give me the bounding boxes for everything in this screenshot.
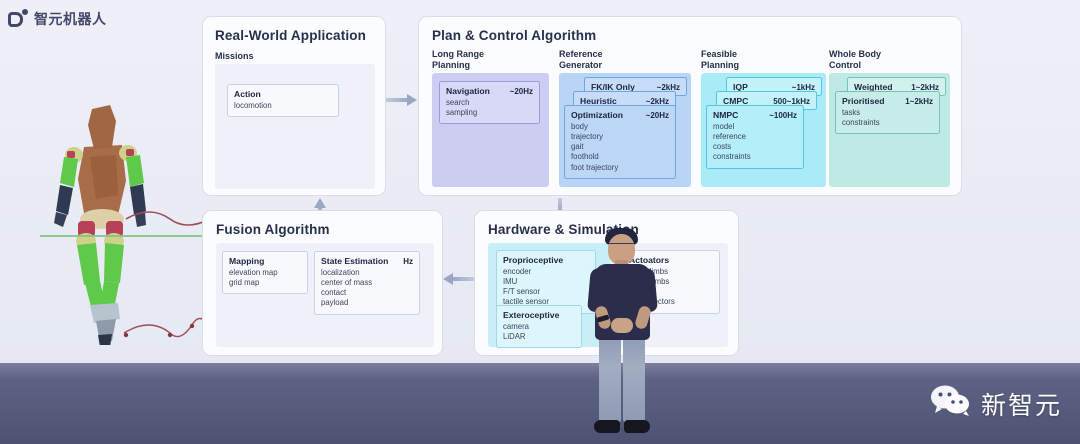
card-proprioceptive[interactable]: Proprioceptive encoder IMU F/T sensor ta… — [496, 250, 596, 314]
panel-title-plan-control: Plan & Control Algorithm — [432, 28, 596, 43]
floor-reflection — [0, 363, 1080, 379]
list-item: payload — [321, 298, 413, 308]
list-item: contact — [321, 288, 413, 298]
list-item: camera — [503, 322, 575, 332]
group-title-reference-generator: Reference Generator — [559, 49, 603, 71]
card-title-navigation: Navigation — [446, 86, 490, 96]
list-item: trajectory — [571, 132, 669, 142]
list-item: model — [713, 122, 797, 132]
card-items-navigation: search sampling — [446, 98, 533, 118]
card-title-optimization: Optimization — [571, 110, 623, 120]
group-title-long-range-planning: Long Range Planning — [432, 49, 484, 71]
card-exteroceptive[interactable]: Exteroceptive camera LiDAR — [496, 305, 582, 348]
presenter-leg-right — [623, 336, 645, 424]
robot-svg — [40, 95, 215, 345]
card-mapping[interactable]: Mapping elevation map grid map — [222, 251, 308, 294]
brand-name: 智元机器人 — [34, 9, 107, 29]
list-item: body — [571, 122, 669, 132]
list-item: grid map — [229, 278, 301, 288]
list-item: sampling — [446, 108, 533, 118]
card-hz-prioritised: 1~2kHz — [905, 97, 933, 106]
group-body-long-range-planning: Navigation ~20Hz search sampling — [432, 73, 549, 187]
card-navigation[interactable]: Navigation ~20Hz search sampling — [439, 81, 540, 124]
card-hz-optimization: ~20Hz — [646, 111, 669, 120]
list-item: gait — [571, 142, 669, 152]
card-items-mapping: elevation map grid map — [229, 268, 301, 288]
card-state-estimation[interactable]: State Estimation Hz localization center … — [314, 251, 420, 315]
brand-logo: 智元机器人 — [8, 9, 107, 29]
glasses-icon — [609, 243, 634, 248]
card-title-action: Action — [234, 89, 261, 99]
card-items-nmpc: model reference costs constraints — [713, 122, 797, 163]
group-body-fusion: Mapping elevation map grid map State Est… — [216, 243, 434, 347]
card-hz-state-estimation: Hz — [403, 257, 413, 266]
card-title-prioritised: Prioritised — [842, 96, 885, 106]
group-title-missions: Missions — [215, 51, 254, 62]
list-item: locomotion — [234, 101, 332, 111]
panel-real-world-application: Real-World Application Missions Action l… — [202, 16, 386, 196]
list-item: constraints — [713, 152, 797, 162]
list-item: LiDAR — [503, 332, 575, 342]
card-hz-nmpc: ~100Hz — [769, 111, 797, 120]
list-item: reference — [713, 132, 797, 142]
list-item: IMU — [503, 277, 589, 287]
group-body-reference-generator: FK/IK Only ~2kHz Heuristic ~2kHz Optimiz… — [559, 73, 691, 187]
panel-title-fusion: Fusion Algorithm — [216, 222, 330, 237]
list-item: localization — [321, 268, 413, 278]
list-item: foothold — [571, 152, 669, 162]
list-item: foot trajectory — [571, 163, 669, 173]
card-hz-navigation: ~20Hz — [510, 87, 533, 96]
list-item: search — [446, 98, 533, 108]
list-item: tasks — [842, 108, 933, 118]
presenter-person — [582, 226, 664, 444]
watermark: 新智元 — [930, 385, 1062, 422]
card-title-nmpc: NMPC — [713, 110, 738, 120]
card-items-action: locomotion — [234, 101, 332, 111]
arrow-hardware-to-fusion — [442, 273, 474, 285]
list-item: encoder — [503, 267, 589, 277]
panel-plan-control-algorithm: Plan & Control Algorithm Long Range Plan… — [418, 16, 962, 196]
panel-fusion-algorithm: Fusion Algorithm Mapping elevation map g… — [202, 210, 443, 356]
card-items-state-estimation: localization center of mass contact payl… — [321, 268, 413, 309]
list-item: elevation map — [229, 268, 301, 278]
card-prioritised[interactable]: Prioritised 1~2kHz tasks constraints — [835, 91, 940, 134]
card-nmpc[interactable]: NMPC ~100Hz model reference costs constr… — [706, 105, 804, 169]
card-optimization[interactable]: Optimization ~20Hz body trajectory gait … — [564, 105, 676, 179]
presenter-leg-left — [599, 336, 621, 424]
group-body-whole-body-control: Weighted 1~2kHz Prioritised 1~2kHz tasks… — [829, 73, 950, 187]
group-title-whole-body-control: Whole Body Control — [829, 49, 881, 71]
list-item: center of mass — [321, 278, 413, 288]
ground-plane-line — [40, 235, 215, 237]
card-items-optimization: body trajectory gait foothold foot traje… — [571, 122, 669, 173]
card-title-exteroceptive: Exteroceptive — [503, 310, 559, 320]
panel-title-real-world: Real-World Application — [215, 28, 366, 43]
card-title-proprioceptive: Proprioceptive — [503, 255, 563, 265]
card-items-exteroceptive: camera LiDAR — [503, 322, 575, 342]
list-item: costs — [713, 142, 797, 152]
card-items-proprioceptive: encoder IMU F/T sensor tactile sensor — [503, 267, 589, 308]
group-body-feasible-planning: IQP ~1kHz CMPC 500~1kHz NMPC ~100Hz mode… — [701, 73, 826, 187]
agibot-logo-icon — [8, 9, 28, 29]
humanoid-robot-simulation-figure — [40, 95, 215, 345]
card-title-state-estimation: State Estimation — [321, 256, 388, 266]
watermark-text: 新智元 — [981, 386, 1062, 422]
arrow-realworld-to-plan — [386, 94, 418, 106]
group-title-feasible-planning: Feasible Planning — [701, 49, 739, 71]
card-title-mapping: Mapping — [229, 256, 264, 266]
list-item: constraints — [842, 118, 933, 128]
presenter-shoe-right — [624, 420, 650, 433]
presenter-shoe-left — [594, 420, 620, 433]
group-body-missions: Action locomotion — [215, 64, 375, 189]
card-action[interactable]: Action locomotion — [227, 84, 339, 117]
list-item: F/T sensor — [503, 287, 589, 297]
presenter-hands — [611, 318, 633, 333]
wechat-icon — [930, 385, 972, 422]
card-items-prioritised: tasks constraints — [842, 108, 933, 128]
